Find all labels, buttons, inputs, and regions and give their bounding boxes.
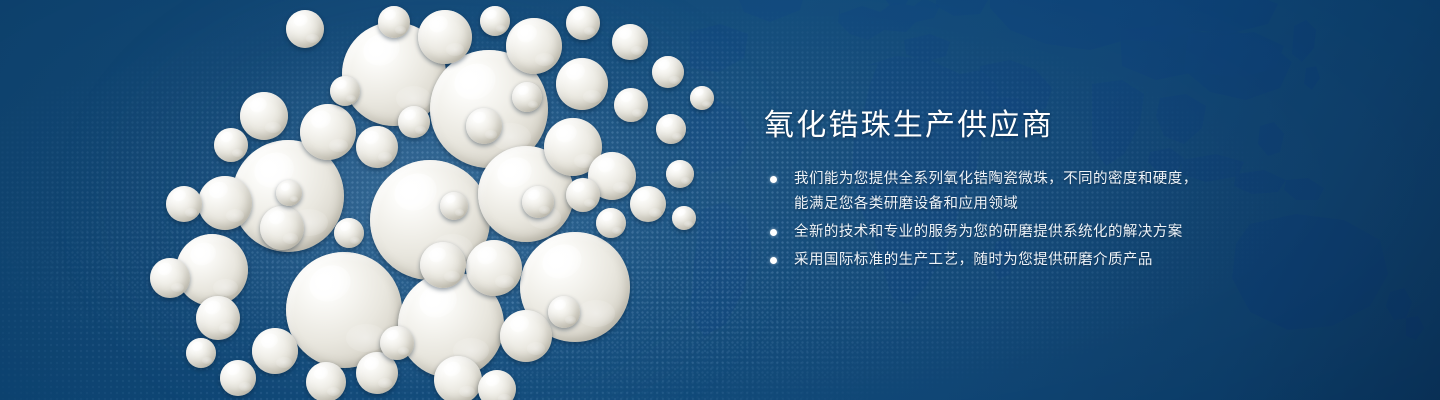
list-item: 我们能为您提供全系列氧化锆陶瓷微珠，不同的密度和硬度， 能满足您各类研磨设备和应… — [764, 167, 1234, 217]
bullet-line-1: 全新的技术和专业的服务为您的研磨提供系统化的解决方案 — [794, 224, 1183, 240]
bullet-dot-icon — [770, 176, 777, 183]
bullet-line-1: 采用国际标准的生产工艺，随时为您提供研磨介质产品 — [794, 252, 1153, 268]
hero-banner: 氧化锆珠生产供应商 我们能为您提供全系列氧化锆陶瓷微珠，不同的密度和硬度， 能满… — [0, 0, 1440, 400]
bullet-line-1: 我们能为您提供全系列氧化锆陶瓷微珠，不同的密度和硬度， — [794, 171, 1198, 187]
bullet-dot-icon — [770, 229, 777, 236]
feature-bullet-list: 我们能为您提供全系列氧化锆陶瓷微珠，不同的密度和硬度， 能满足您各类研磨设备和应… — [764, 167, 1234, 273]
list-item: 采用国际标准的生产工艺，随时为您提供研磨介质产品 — [764, 248, 1234, 273]
banner-copy: 氧化锆珠生产供应商 我们能为您提供全系列氧化锆陶瓷微珠，不同的密度和硬度， 能满… — [764, 106, 1234, 276]
page-title: 氧化锆珠生产供应商 — [764, 106, 1234, 146]
bullet-dot-icon — [770, 257, 777, 264]
bullet-line-2: 能满足您各类研磨设备和应用领域 — [794, 192, 1234, 217]
list-item: 全新的技术和专业的服务为您的研磨提供系统化的解决方案 — [764, 220, 1234, 245]
zirconia-bead-cluster-image — [0, 0, 780, 400]
